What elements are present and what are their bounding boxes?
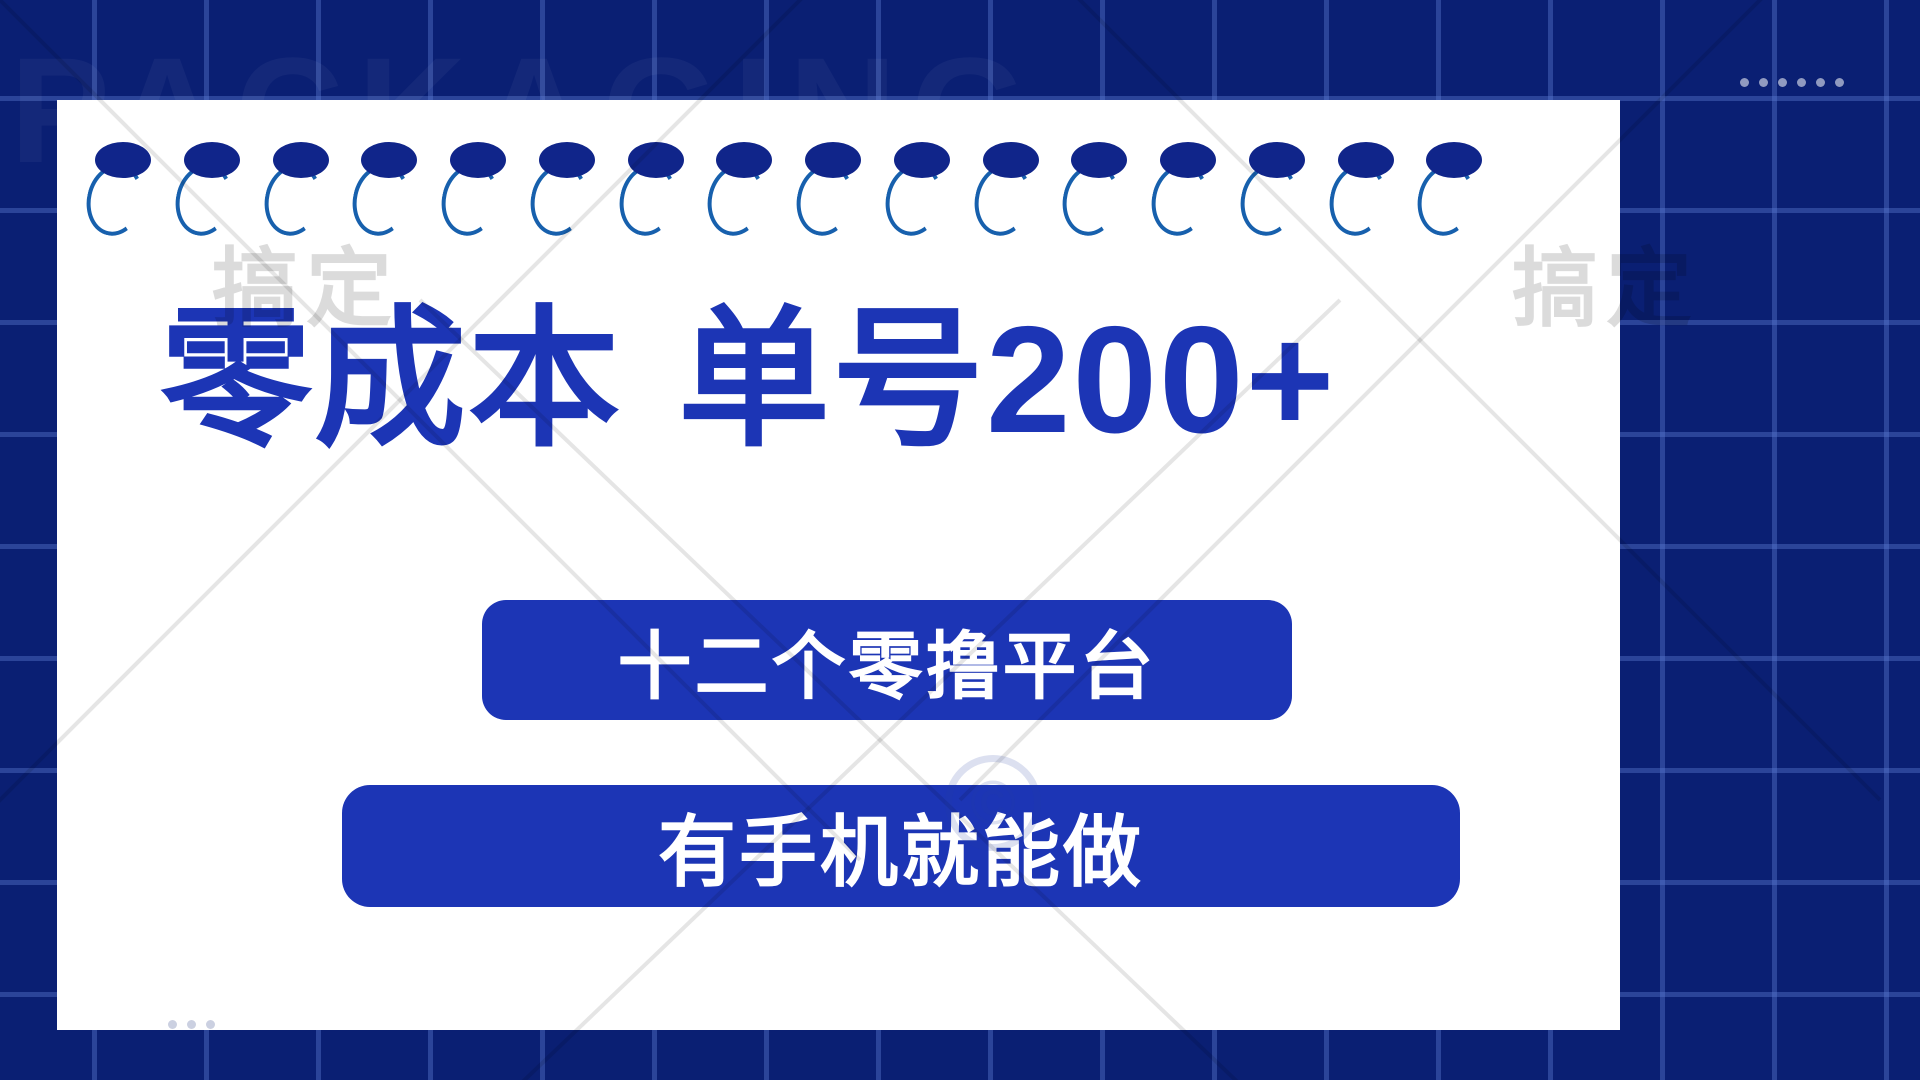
dot (206, 1020, 215, 1029)
spiral-hole (983, 142, 1039, 178)
spiral-binding (95, 142, 1515, 252)
dot (168, 1020, 177, 1029)
dot (1778, 78, 1787, 87)
spiral-hole (273, 142, 329, 178)
pill-button-platforms[interactable]: 十二个零撸平台 (482, 600, 1292, 720)
spiral-hole (1071, 142, 1127, 178)
spiral-hole (628, 142, 684, 178)
pill-label: 有手机就能做 (658, 790, 1144, 902)
dot (1816, 78, 1825, 87)
spiral-hole (716, 142, 772, 178)
page-title: 零成本单号200+ (160, 300, 1560, 461)
spiral-hole (1160, 142, 1216, 178)
pill-button-phone-only[interactable]: 有手机就能做 (342, 785, 1460, 907)
card-left-edge (57, 100, 63, 1030)
spiral-hole (1249, 142, 1305, 178)
spiral-hole (450, 142, 506, 178)
dot (187, 1020, 196, 1029)
dot (1740, 78, 1749, 87)
spiral-hole (539, 142, 595, 178)
spiral-hole (184, 142, 240, 178)
spiral-hole (894, 142, 950, 178)
dot (1759, 78, 1768, 87)
headline-part-1: 零成本 (160, 295, 622, 465)
spiral-hole (95, 142, 151, 178)
bottom-left-dots (168, 1020, 215, 1029)
spiral-hole (1426, 142, 1482, 178)
spiral-hole (805, 142, 861, 178)
top-right-dots (1740, 78, 1844, 87)
dot (1835, 78, 1844, 87)
spiral-hole (361, 142, 417, 178)
pill-label: 十二个零撸平台 (618, 607, 1157, 714)
headline-part-2: 单号200+ (678, 295, 1336, 465)
dot (1797, 78, 1806, 87)
poster-canvas: PACKAGING 零成本单号200+ 十二个零撸平台 有手机就能做 搞定 搞定 (0, 0, 1920, 1080)
spiral-hole (1338, 142, 1394, 178)
